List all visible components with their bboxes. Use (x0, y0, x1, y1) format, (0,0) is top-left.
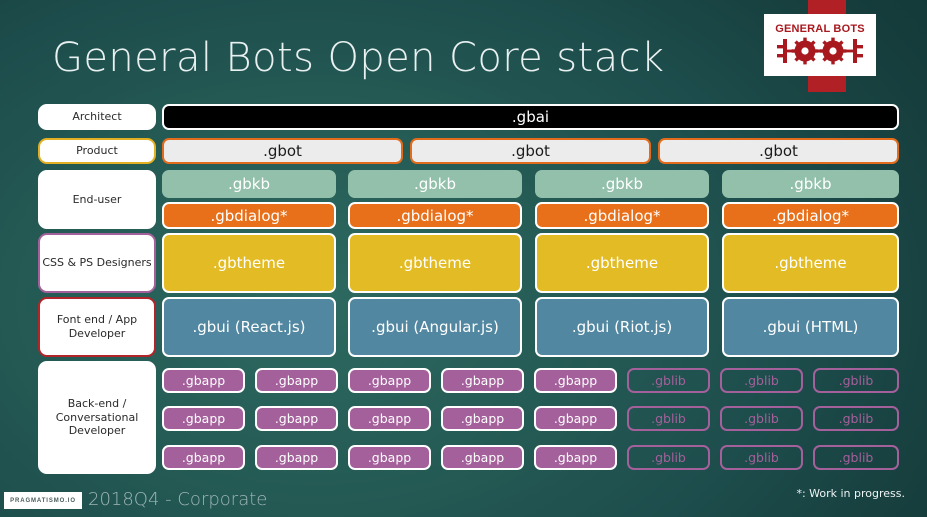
stack-cell-gbapp[interactable]: .gbapp (162, 445, 245, 470)
general-bots-logo: GENERAL BOTS (764, 14, 876, 76)
stack-cell-gbapp[interactable]: .gbapp (534, 445, 617, 470)
stack-cell-gbapp[interactable]: .gbapp (255, 368, 338, 393)
stack-cell-gbtheme[interactable]: .gbtheme (535, 233, 709, 293)
row-label-front-end-app-developer: Font end / App Developer (38, 297, 156, 357)
stack-cell-gblib[interactable]: .gblib (627, 445, 710, 470)
stack-cell-gbapp[interactable]: .gbapp (441, 445, 524, 470)
stack-cell-gbui-html[interactable]: .gbui (HTML) (722, 297, 899, 357)
stack-cell-gbdialog[interactable]: .gbdialog* (535, 202, 709, 229)
stack-cell-gbot[interactable]: .gbot (162, 138, 403, 164)
stack-cell-gbui-angularjs[interactable]: .gbui (Angular.js) (348, 297, 522, 357)
stack-cell-gbapp[interactable]: .gbapp (255, 406, 338, 431)
footer-caption: 2018Q4 - Corporate (88, 489, 267, 510)
stack-cell-gbapp[interactable]: .gbapp (348, 445, 431, 470)
stack-cell-gbot[interactable]: .gbot (410, 138, 651, 164)
stack-cell-gblib[interactable]: .gblib (720, 368, 803, 393)
stack-cell-gbtheme[interactable]: .gbtheme (348, 233, 522, 293)
stack-cell-gbkb[interactable]: .gbkb (348, 170, 522, 198)
stack-cell-gblib[interactable]: .gblib (813, 406, 899, 431)
stack-cell-gbapp[interactable]: .gbapp (441, 368, 524, 393)
stack-cell-gblib[interactable]: .gblib (813, 445, 899, 470)
stack-cell-gbapp[interactable]: .gbapp (441, 406, 524, 431)
row-label-end-user: End-user (38, 170, 156, 229)
stack-cell-gbapp[interactable]: .gbapp (348, 368, 431, 393)
row-label-product: Product (38, 138, 156, 164)
stack-cell-gbui-reactjs[interactable]: .gbui (React.js) (162, 297, 336, 357)
stack-cell-gbai[interactable]: .gbai (162, 104, 899, 130)
stack-cell-gbdialog[interactable]: .gbdialog* (162, 202, 336, 229)
stack-cell-gblib[interactable]: .gblib (720, 445, 803, 470)
stack-cell-gblib[interactable]: .gblib (627, 406, 710, 431)
stack-cell-gbot[interactable]: .gbot (658, 138, 899, 164)
stack-cell-gbui-riotjs[interactable]: .gbui (Riot.js) (535, 297, 709, 357)
stack-cell-gbapp[interactable]: .gbapp (255, 445, 338, 470)
row-label-back-end-conversational-developer: Back-end / Conversational Developer (38, 361, 156, 474)
stack-cell-gbapp[interactable]: .gbapp (534, 368, 617, 393)
stack-cell-gbkb[interactable]: .gbkb (162, 170, 336, 198)
stack-cell-gbapp[interactable]: .gbapp (162, 406, 245, 431)
stack-cell-gblib[interactable]: .gblib (813, 368, 899, 393)
stack-cell-gbkb[interactable]: .gbkb (722, 170, 899, 198)
row-label-architect: Architect (38, 104, 156, 130)
stack-cell-gblib[interactable]: .gblib (627, 368, 710, 393)
stack-cell-gbapp[interactable]: .gbapp (162, 368, 245, 393)
stack-cell-gbdialog[interactable]: .gbdialog* (348, 202, 522, 229)
stack-cell-gbtheme[interactable]: .gbtheme (722, 233, 899, 293)
slide-canvas: GENERAL BOTS (0, 0, 927, 517)
stack-cell-gbdialog[interactable]: .gbdialog* (722, 202, 899, 229)
stack-cell-gbapp[interactable]: .gbapp (534, 406, 617, 431)
stack-cell-gbkb[interactable]: .gbkb (535, 170, 709, 198)
page-title: General Bots Open Core stack (52, 35, 665, 81)
pragmatismo-wordmark: PRAGMATISMO.IO (10, 498, 76, 504)
row-label-css-ps-designers: CSS & PS Designers (38, 233, 156, 293)
work-in-progress-note: *: Work in progress. (796, 487, 905, 500)
stack-cell-gbapp[interactable]: .gbapp (348, 406, 431, 431)
pragmatismo-logo: PRAGMATISMO.IO (4, 492, 82, 509)
stack-cell-gbtheme[interactable]: .gbtheme (162, 233, 336, 293)
logo-wordmark: GENERAL BOTS (775, 24, 865, 35)
two-gears-between-bars-icon (777, 36, 863, 66)
stack-cell-gblib[interactable]: .gblib (720, 406, 803, 431)
